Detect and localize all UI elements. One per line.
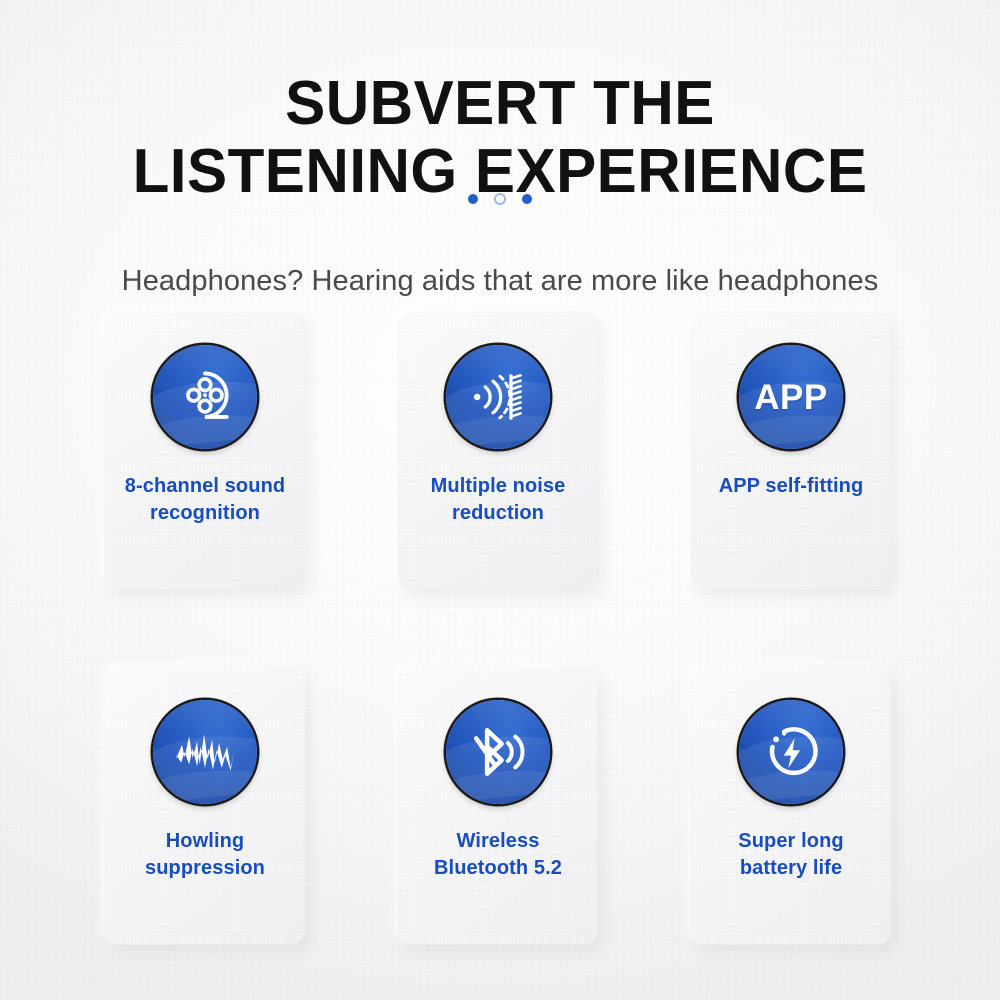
feature-card-label: APP self-fitting (698, 473, 884, 500)
feature-card-label: Wireless Bluetooth 5.2 (405, 828, 591, 882)
feature-card-label: Super long battery life (698, 828, 884, 882)
feature-icon-badge (446, 700, 550, 804)
carousel-dot-2[interactable] (494, 193, 506, 205)
badge-wave-lower (739, 411, 843, 449)
feature-card-app-self-fitting[interactable]: APP APP self-fitting (691, 311, 891, 590)
feature-card-label: 8-channel sound recognition (112, 473, 298, 527)
feature-icon-badge: APP (739, 345, 843, 449)
app-text-icon: APP (754, 380, 827, 415)
feature-card-super-long-battery-life[interactable]: Super long battery life (691, 666, 891, 945)
feature-card-label: Multiple noise reduction (405, 473, 591, 527)
battery-bolt-icon (762, 723, 820, 781)
feature-grid: 8-channel sound recognition (105, 311, 899, 945)
promo-page: SUBVERT THE LISTENING EXPERIENCE Headpho… (0, 0, 1000, 1000)
film-reel-icon (176, 368, 234, 426)
feature-card-8-channel-sound-recognition[interactable]: 8-channel sound recognition (105, 311, 305, 590)
carousel-dots[interactable] (0, 193, 1000, 205)
feature-icon-badge (446, 345, 550, 449)
feature-card-label: Howling suppression (112, 828, 298, 882)
carousel-dot-3[interactable] (522, 194, 532, 204)
feature-card-howling-suppression[interactable]: Howling suppression (105, 666, 305, 945)
page-title: SUBVERT THE LISTENING EXPERIENCE (15, 70, 985, 206)
feature-card-multiple-noise-reduction[interactable]: Multiple noise reduction (398, 311, 598, 590)
bluetooth-signal-icon (467, 723, 529, 781)
page-subtitle: Headphones? Hearing aids that are more l… (0, 265, 1000, 298)
carousel-dot-1[interactable] (468, 194, 478, 204)
feature-icon-badge (153, 700, 257, 804)
feature-card-wireless-bluetooth[interactable]: Wireless Bluetooth 5.2 (398, 666, 598, 945)
feature-icon-badge (739, 700, 843, 804)
howling-waveform-icon (174, 729, 236, 775)
noise-barrier-icon (468, 368, 528, 426)
feature-icon-badge (153, 345, 257, 449)
